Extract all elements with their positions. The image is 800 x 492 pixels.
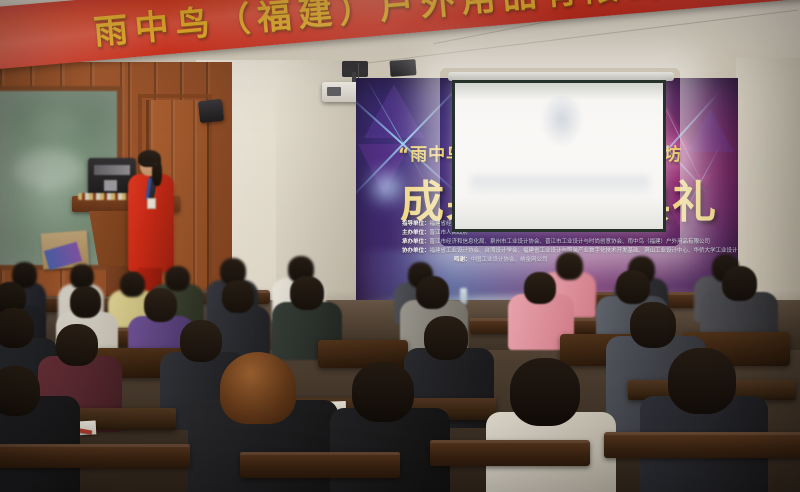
attendee-head [165,266,190,291]
attendee-head [290,276,324,310]
attendee-head [222,280,254,313]
attendee-hair-curly [220,352,296,424]
chalk-smudge [30,110,80,136]
backdrop-triangle [686,108,734,152]
attendee-head [0,308,34,348]
projector-vent [327,87,341,96]
projected-figure [540,96,584,148]
bench [0,444,190,468]
attendee-head [180,320,222,362]
credit-row: 承办单位：晋江市经济和信息化局、泉州市工业设计协会、晋江市工业设计与时尚创意协会… [402,238,732,247]
attendee-head [0,366,40,416]
chalk-smudge [14,150,84,190]
attendee-head [524,272,556,304]
attendee-head [630,302,676,348]
attendee-head [424,316,468,360]
attendee-head [722,266,757,301]
attendee-head [352,362,414,422]
attendee-head [56,324,98,366]
bench [604,432,800,458]
ceiling-speaker [389,59,416,77]
conference-hall-photo: 雨中鸟（福建）户外用品有限公司管理升级动员大会 “雨中鸟 成果 工作坊 典礼 指… [0,0,800,492]
bench [240,452,400,478]
attendee-head [144,288,177,322]
wall-speaker [198,99,224,123]
monitor-screen [94,165,130,175]
attendee-head [510,358,580,426]
attendee-head [416,276,449,309]
backdrop-glow [374,174,400,200]
glasses-icon [141,163,157,168]
attendee-head [616,270,650,304]
monitor-indicator [104,180,117,191]
attendee-head [120,272,145,297]
attendee-head [556,252,583,280]
attendee-head [70,286,101,318]
presenter-badge [147,198,156,209]
attendee-head [668,348,736,414]
projected-content-bar [470,176,650,198]
bench [430,440,590,466]
